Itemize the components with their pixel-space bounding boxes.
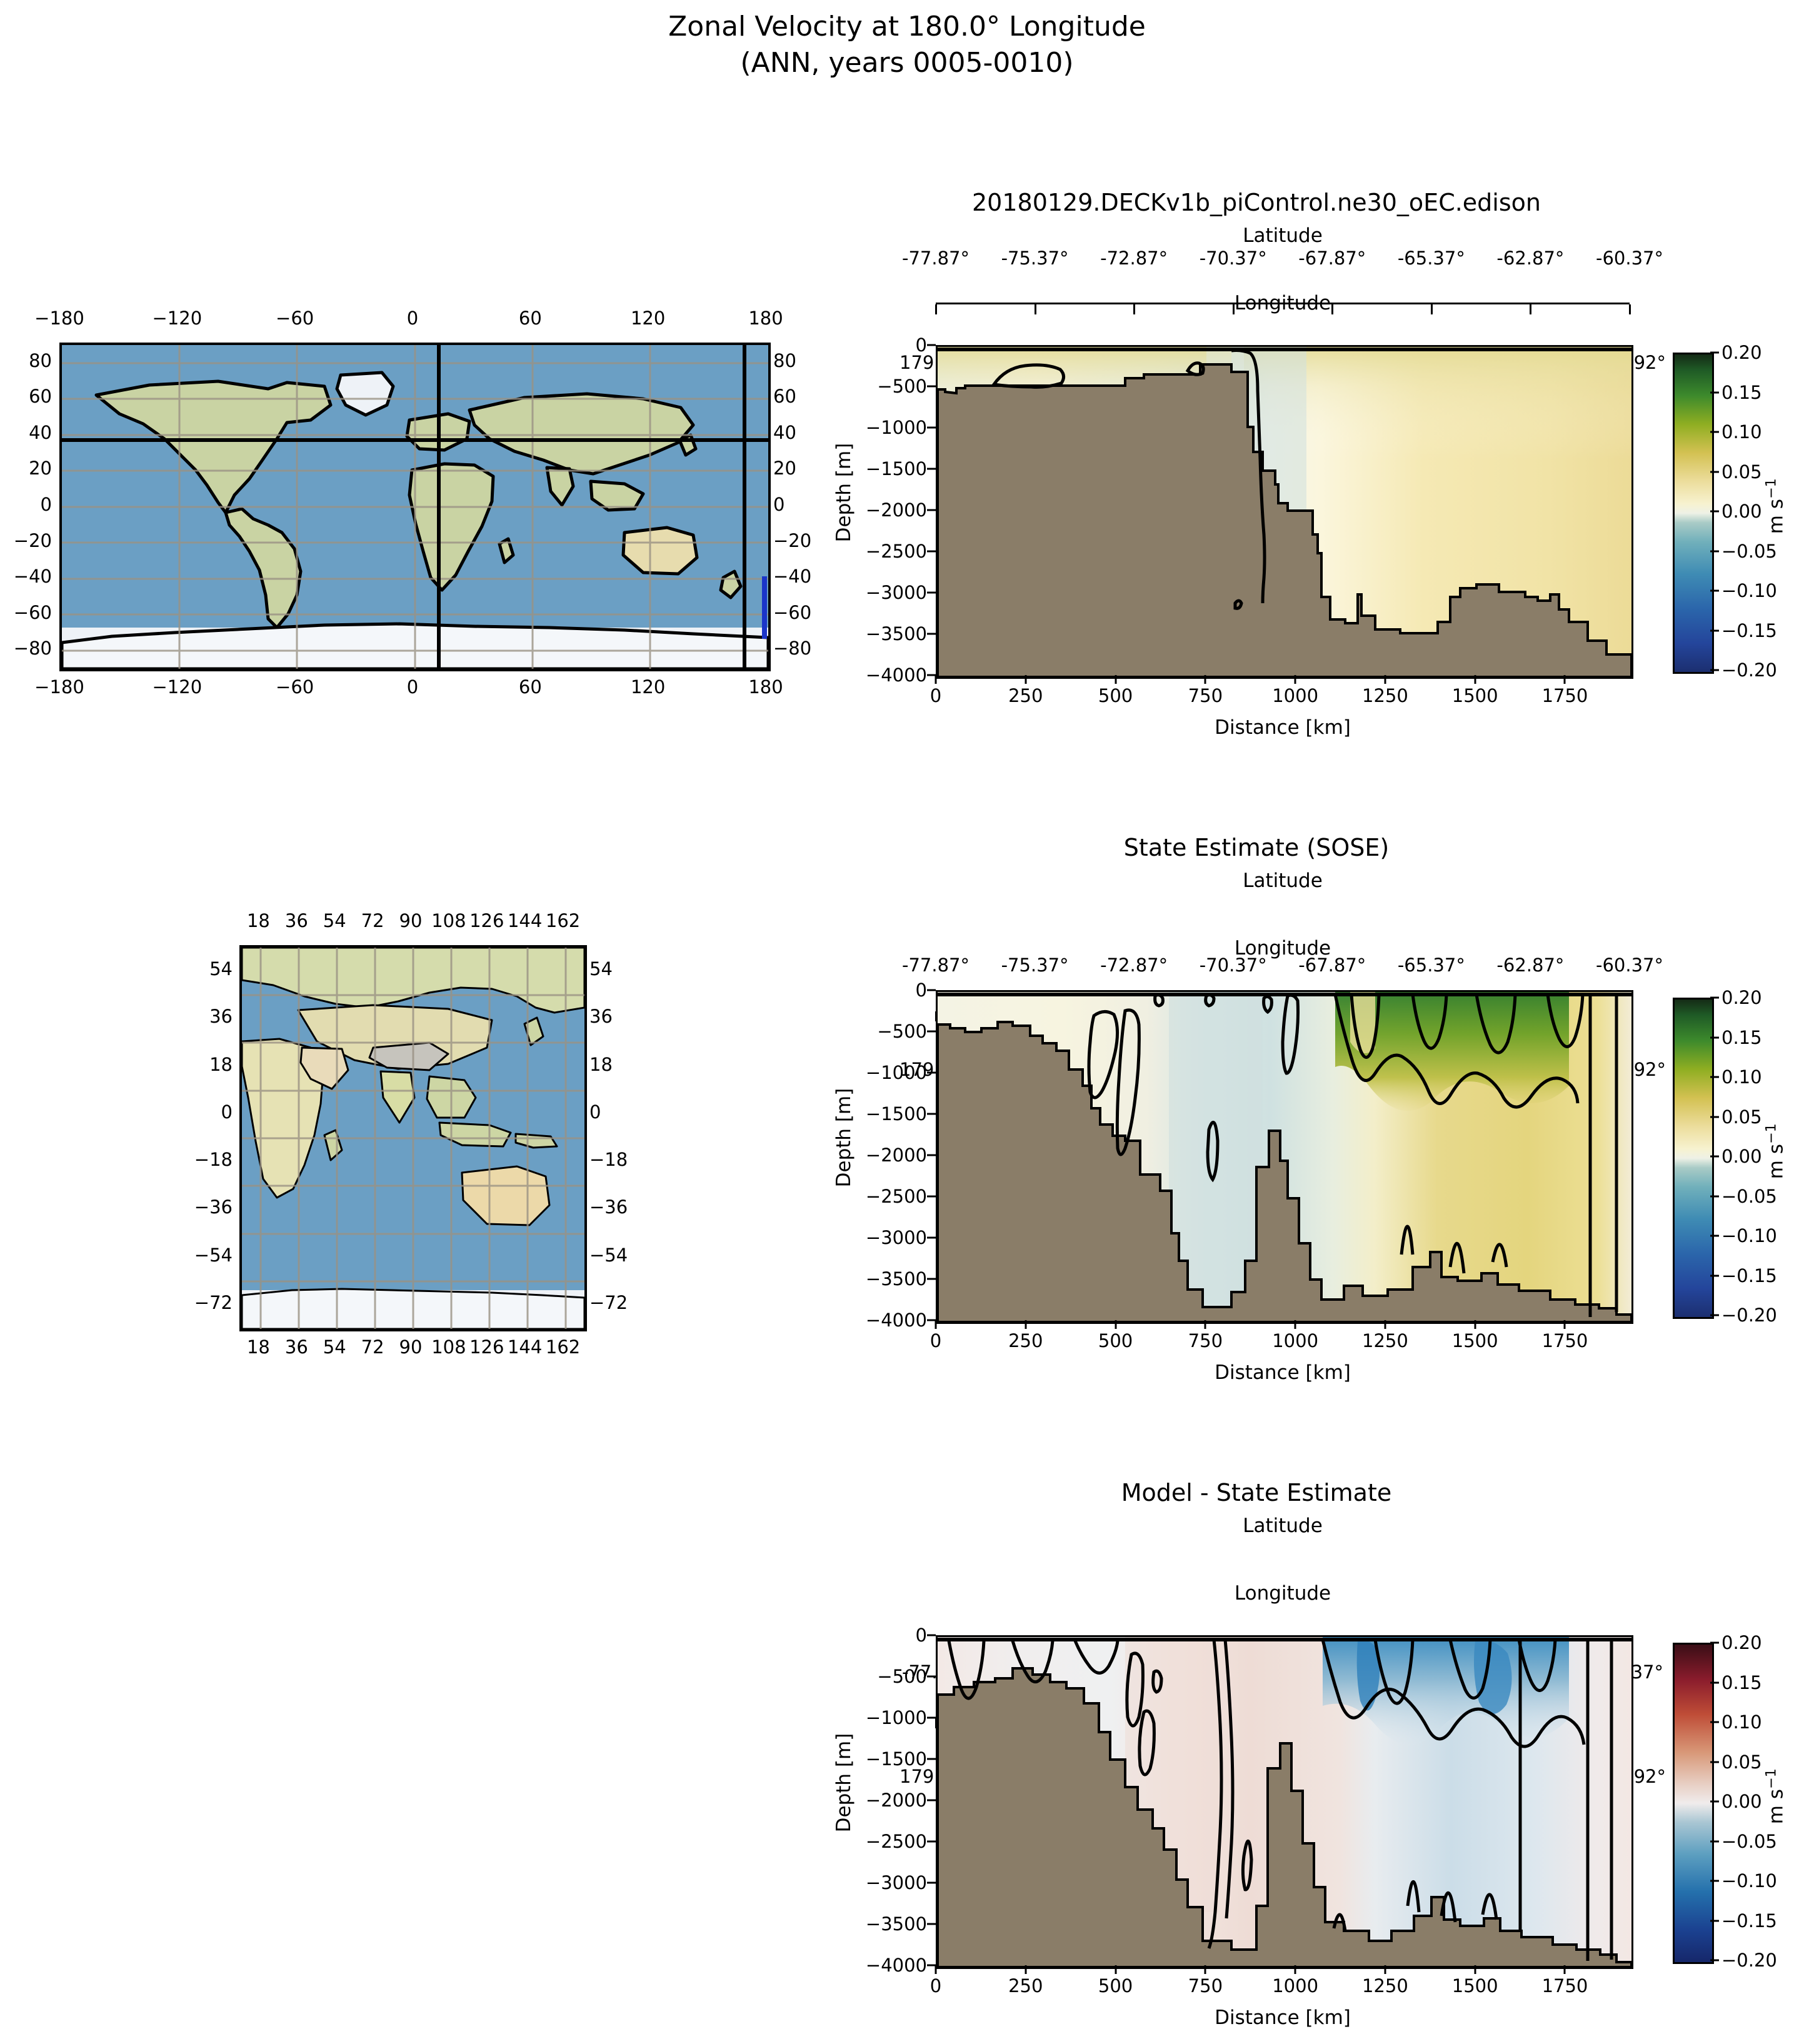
mm1-xt-bot-label: −120 [153,676,203,698]
panel-0-cross-section[interactable] [936,345,1633,679]
mm2-xt-bot-label: 72 [361,1336,384,1358]
suptitle-line-1: Zonal Velocity at 180.0° Longitude [0,9,1814,45]
mm2-xt-bot-label: 108 [431,1336,466,1358]
mm1-xt-top-label: 180 [748,308,783,329]
p0-yt-mark [927,551,936,553]
cb1-t-label: 0.00 [1710,1146,1762,1167]
panel-0-latitude-ticks: -77.87°-75.37°-72.87°-70.37°-67.87°-65.3… [936,248,1630,273]
mm2-xt-top-label: 162 [546,910,580,931]
p2-xt-label: 1250 [1362,1965,1408,1996]
panel-2-colorbar[interactable] [1673,1643,1714,1964]
panel-1-colorbar-gradient [1675,999,1712,1317]
p0-yt-mark [927,344,936,346]
p1-yt-mark [927,989,936,991]
p1-yt-mark [927,1237,936,1239]
p0-yt-label: −3500 [866,623,936,644]
mm1-yt-right-label: 40 [773,422,796,443]
p1-yt-label: −1000 [866,1062,936,1083]
cb1-t-label: 0.10 [1710,1066,1762,1088]
panel-1-title: State Estimate (SOSE) [813,834,1700,861]
panel-0-xlabel: Distance [km] [936,716,1630,739]
mm1-yt-right-label: −40 [773,566,811,587]
panel-0-title: 20180129.DECKv1b_piControl.ne30_oEC.edis… [813,189,1700,216]
cb2-t-label: −0.20 [1710,1950,1777,1971]
p2-xt-label: 750 [1188,1965,1223,1996]
mm2-yt-right-label: −72 [589,1292,628,1313]
p1-xt-label: 1500 [1452,1320,1498,1351]
p2-xt-label: 250 [1008,1965,1043,1996]
mm2-xt-bot-label: 144 [508,1336,542,1358]
p0-yt-mark [927,509,936,511]
mm1-yt-left-label: −60 [14,602,52,623]
p1-xt-label: 750 [1188,1320,1223,1351]
mm1-xt-top-label: 120 [631,308,665,329]
locator-map-1-canvas [62,345,768,669]
p2-yt-label: −3000 [866,1872,936,1893]
figure-suptitle: Zonal Velocity at 180.0° Longitude (ANN,… [0,9,1814,81]
mm1-yt-right-label: 0 [773,494,784,515]
mm1-yt-left-label: 60 [29,386,52,407]
p1-yt-mark [927,1113,936,1115]
suptitle-line-2: (ANN, years 0005-0010) [0,45,1814,81]
mm1-xt-top-label: −180 [34,308,84,329]
mm1-yt-right-label: −20 [773,530,811,551]
mm2-xt-top-label: 144 [508,910,542,931]
locator-map-1-xticks-top: −180−120−60060120180 [59,308,766,333]
cb0-t-label: 0.10 [1710,421,1762,443]
locator-map-2[interactable] [239,945,587,1331]
p0-xt-label: 1750 [1542,675,1588,706]
panel-2-ylabel: Depth [m] [833,1720,855,1845]
cb2-t-label: −0.10 [1710,1870,1777,1891]
locator-map-2-canvas [242,948,584,1329]
mm2-xt-top-label: 18 [247,910,270,931]
panel-2-colorbar-unit: m s−1 [1763,1759,1787,1834]
mm1-yt-left-label: 40 [29,422,52,443]
p0-yt-label: −3000 [866,582,936,603]
panel-2-longitude-axis-label: Longitude [936,1583,1630,1604]
mm2-yt-right-label: 0 [589,1101,601,1123]
p0-xt-label: 750 [1188,675,1223,706]
p2-yt-label: −1000 [866,1707,936,1728]
panel-2-cross-section[interactable] [936,1635,1633,1969]
mm2-yt-left-label: −72 [194,1292,233,1313]
mm2-yt-right-label: −36 [589,1196,628,1218]
mm1-yt-right-label: −60 [773,602,811,623]
mm1-yt-left-label: 0 [41,494,52,515]
mm2-yt-left-label: 36 [209,1006,233,1027]
mm2-yt-right-label: 36 [589,1006,613,1027]
p1-yt-label: −2000 [866,1145,936,1166]
cb0-t-label: 0.05 [1710,461,1762,483]
panel-0-colorbar[interactable] [1673,353,1714,674]
panel-0-latitude-axis-label: Latitude [936,225,1630,246]
p1-xt-label: 250 [1008,1320,1043,1351]
p0-lat-tick: -70.37° [1200,248,1267,269]
p1-yt-label: −4000 [866,1310,936,1331]
mm2-yt-left-label: −36 [194,1196,233,1218]
p0-yt-label: −4000 [866,664,936,686]
p0-xt-label: 250 [1008,675,1043,706]
mm2-yt-right-label: −54 [589,1245,628,1266]
panel-2-xlabel: Distance [km] [936,2006,1630,2029]
p2-yt-mark [927,1965,936,1966]
p0-xt-label: 500 [1098,675,1133,706]
p0-yt-mark [927,633,936,635]
cb1-t-label: −0.15 [1710,1265,1777,1286]
cb2-t-label: 0.05 [1710,1751,1762,1773]
mm2-yt-right-label: −18 [589,1149,628,1170]
cb0-t-label: 0.20 [1710,342,1762,363]
mm1-yt-left-label: −20 [14,530,52,551]
p1-yt-label: −3000 [866,1227,936,1248]
panel-1-cross-section[interactable] [936,990,1633,1324]
p2-yt-mark [927,1635,936,1636]
p1-xt-label: 500 [1098,1320,1133,1351]
p0-lat-tick: -75.37° [1001,248,1069,269]
panel-2-title: Model - State Estimate [813,1479,1700,1506]
p1-xt-label: 1000 [1272,1320,1318,1351]
p2-xt-label: 500 [1098,1965,1133,1996]
mm1-yt-left-label: −80 [14,638,52,659]
cb1-t-label: 0.15 [1710,1027,1762,1048]
mm2-xt-bot-label: 90 [399,1336,423,1358]
panel-1-ylabel: Depth [m] [833,1075,855,1200]
p0-xt-label: 1250 [1362,675,1408,706]
p1-yt-mark [927,1031,936,1033]
mm1-xt-top-label: −60 [276,308,314,329]
p1-xt-label: 1750 [1542,1320,1588,1351]
panel-1-colorbar[interactable] [1673,998,1714,1319]
p2-yt-mark [927,1882,936,1884]
p0-yt-label: −2000 [866,499,936,521]
p1-yt-mark [927,1155,936,1156]
cb0-t-label: −0.10 [1710,580,1777,601]
panel-0-ylabel: Depth [m] [833,430,855,555]
mm2-xt-top-label: 108 [431,910,466,931]
p2-yt-mark [927,1717,936,1719]
mm2-xt-top-label: 54 [323,910,346,931]
p0-xt-label: 1500 [1452,675,1498,706]
mm1-yt-right-label: 20 [773,458,796,479]
locator-map-2-yticks-right: 5436180−18−36−54−72 [589,945,664,1326]
cb1-t-label: −0.10 [1710,1225,1777,1246]
p1-yt-label: −2500 [866,1186,936,1207]
panel-1-field [938,992,1631,1322]
p2-yt-label: −4000 [866,1955,936,1976]
p2-xt-label: 1000 [1272,1965,1318,1996]
cb2-t-label: −0.15 [1710,1910,1777,1931]
mm1-xt-bot-label: 120 [631,676,665,698]
panel-1-longitude-axis-label: Longitude [936,938,1630,959]
p0-lat-tick: -67.87° [1298,248,1366,269]
mm1-xt-top-label: 60 [519,308,542,329]
mm1-yt-left-label: 80 [29,350,52,371]
p2-xt-label: 1500 [1452,1965,1498,1996]
p2-xt-label: 1750 [1542,1965,1588,1996]
mm1-xt-bot-label: 180 [748,676,783,698]
panel-2-latitude-axis-label: Latitude [936,1515,1630,1536]
p0-lat-tick: -60.37° [1596,248,1663,269]
locator-map-2-yticks-left: 5436180−18−36−54−72 [175,945,233,1326]
mm1-yt-right-label: −80 [773,638,811,659]
cb2-t-label: 0.00 [1710,1791,1762,1812]
mm2-yt-left-label: −18 [194,1149,233,1170]
p2-yt-mark [927,1676,936,1678]
p0-xt-label: 1000 [1272,675,1318,706]
mm2-xt-bot-label: 18 [247,1336,270,1358]
p2-yt-label: −3500 [866,1913,936,1935]
mm2-yt-left-label: 54 [209,958,233,979]
p0-yt-label: −1000 [866,417,936,438]
p0-lat-tick: -65.37° [1398,248,1465,269]
panel-2-colorbar-gradient [1675,1645,1712,1962]
cb0-t-label: 0.00 [1710,501,1762,522]
mm2-yt-left-label: 0 [221,1101,233,1123]
cb1-t-label: −0.20 [1710,1305,1777,1326]
panel-0-longitude-axis-label: Longitude [936,293,1630,314]
locator-map-1-yticks-left: 806040200−20−40−60−80 [0,343,52,666]
p1-yt-mark [927,1072,936,1074]
p0-yt-mark [927,674,936,676]
panel-0-field [938,347,1631,677]
locator-map-1[interactable] [59,343,771,671]
panel-1-colorbar-unit: m s−1 [1763,1114,1787,1189]
mm1-yt-right-label: 60 [773,386,796,407]
p2-yt-label: −2000 [866,1790,936,1811]
cb2-t-label: 0.10 [1710,1711,1762,1733]
panel-0-colorbar-gradient [1675,354,1712,672]
mm1-xt-bot-label: 60 [519,676,542,698]
p1-yt-mark [927,1278,936,1280]
mm2-yt-right-label: 18 [589,1054,613,1075]
p1-yt-mark [927,1196,936,1198]
panel-1-latitude-axis-label: Latitude [936,870,1630,891]
mm2-xt-bot-label: 54 [323,1336,346,1358]
cb2-t-label: 0.20 [1710,1632,1762,1653]
mm1-yt-left-label: −40 [14,566,52,587]
p2-yt-mark [927,1758,936,1760]
p0-yt-mark [927,386,936,388]
cb1-t-label: 0.20 [1710,987,1762,1008]
mm1-xt-top-label: −120 [153,308,203,329]
mm1-xt-bot-label: −180 [34,676,84,698]
locator-map-1-xticks-bottom: −180−120−60060120180 [59,676,766,701]
mm2-xt-bot-label: 36 [285,1336,308,1358]
p0-lat-tick: -62.87° [1496,248,1564,269]
p2-yt-label: −1500 [866,1748,936,1770]
mm2-yt-left-label: −54 [194,1245,233,1266]
panel-1-xlabel: Distance [km] [936,1361,1630,1384]
panel-2-field [938,1637,1631,1967]
mm2-yt-left-label: 18 [209,1054,233,1075]
p0-yt-mark [927,592,936,594]
locator-map-2-xticks-top: 1836547290108126144162 [239,910,582,935]
cb1-t-label: 0.05 [1710,1106,1762,1128]
p1-yt-label: −1500 [866,1103,936,1125]
mm2-xt-top-label: 90 [399,910,423,931]
p0-yt-mark [927,427,936,429]
mm2-xt-top-label: 126 [469,910,504,931]
mm1-xt-bot-label: 0 [407,676,418,698]
cb0-t-label: −0.20 [1710,659,1777,681]
p0-yt-label: −1500 [866,458,936,479]
mm1-yt-right-label: 80 [773,350,796,371]
panel-0-colorbar-unit: m s−1 [1763,469,1787,544]
p2-yt-mark [927,1923,936,1925]
locator-map-2-xticks-bottom: 1836547290108126144162 [239,1336,582,1361]
cb0-t-label: −0.15 [1710,620,1777,641]
p0-yt-mark [927,468,936,470]
p2-yt-label: −2500 [866,1831,936,1852]
mm2-xt-top-label: 36 [285,910,308,931]
mm1-yt-left-label: 20 [29,458,52,479]
mm2-xt-bot-label: 162 [546,1336,580,1358]
mm2-xt-bot-label: 126 [469,1336,504,1358]
p1-yt-label: −3500 [866,1268,936,1290]
mm2-xt-top-label: 72 [361,910,384,931]
p2-yt-mark [927,1800,936,1801]
p0-lat-tick: -77.87° [902,248,970,269]
cb0-t-label: 0.15 [1710,382,1762,403]
p1-xt-label: 1250 [1362,1320,1408,1351]
p0-lat-tick: -72.87° [1100,248,1168,269]
p0-yt-label: −2500 [866,541,936,562]
cb2-t-label: 0.15 [1710,1672,1762,1693]
p1-yt-mark [927,1320,936,1321]
mm1-xt-top-label: 0 [407,308,418,329]
mm1-xt-bot-label: −60 [276,676,314,698]
mm2-yt-right-label: 54 [589,958,613,979]
p2-yt-mark [927,1841,936,1843]
